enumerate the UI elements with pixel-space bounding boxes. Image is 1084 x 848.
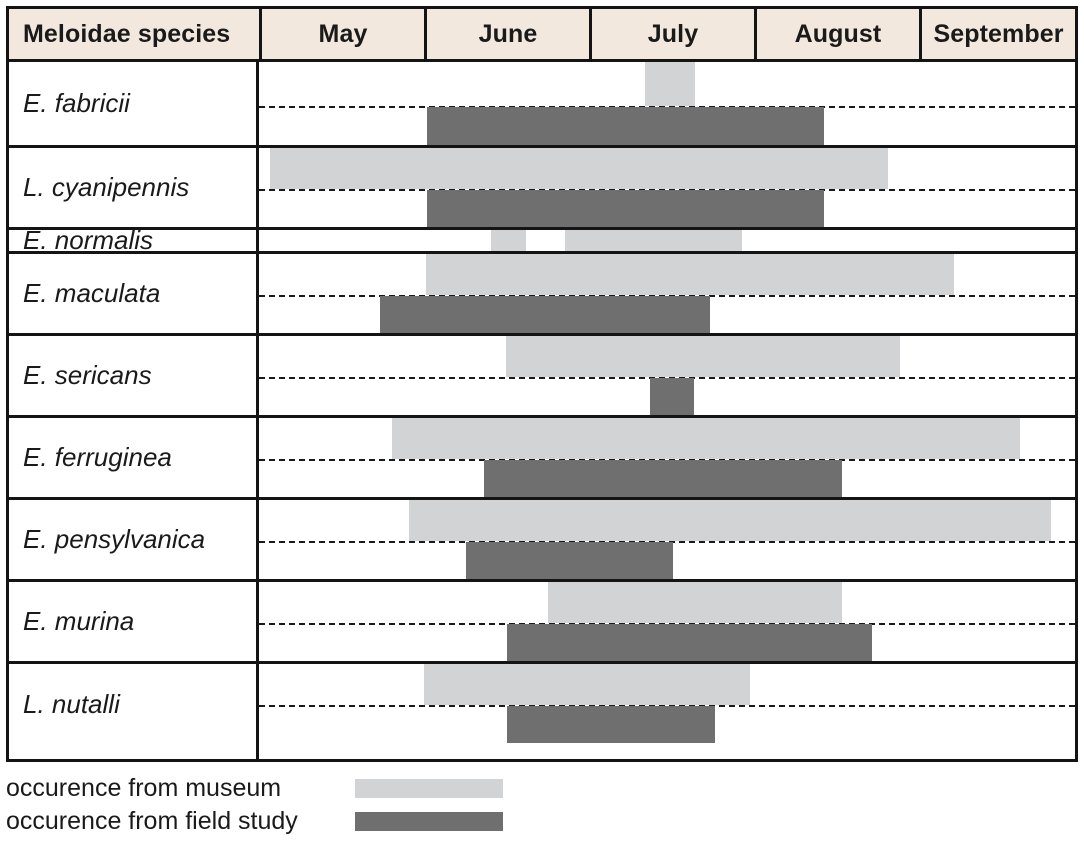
legend: occurence from museum occurence from fie…: [6, 772, 1078, 838]
museum-bar: [565, 230, 742, 251]
field-bar: [380, 296, 710, 333]
row-plot-e-maculata: [259, 254, 1075, 333]
row-label-e-maculata: E. maculata: [23, 277, 160, 308]
museum-bar: [548, 582, 842, 623]
field-swatch: [355, 812, 503, 831]
column-header-september: September: [919, 9, 1075, 59]
row-label-e-sericans: E. sericans: [23, 359, 152, 390]
legend-item-field-study: occurence from field study: [6, 805, 1078, 838]
column-header-species-label: Meloidae species: [23, 20, 230, 49]
row-plot-l-cyanipennis: [259, 148, 1075, 227]
museum-swatch: [355, 779, 503, 798]
row-plot-e-ferruginea: [259, 418, 1075, 497]
column-header-september-label: September: [933, 20, 1063, 49]
museum-bar: [409, 500, 1051, 541]
table-row: E. maculata: [9, 254, 1075, 336]
legend-label-field-study: occurence from field study: [6, 807, 298, 836]
column-header-june-label: June: [479, 20, 538, 49]
museum-bar: [506, 336, 900, 377]
row-plot-e-pensylvanica: [259, 500, 1075, 579]
museum-bar: [270, 148, 888, 189]
column-header-species: Meloidae species: [9, 9, 259, 59]
row-plot-e-sericans: [259, 336, 1075, 415]
field-bar: [427, 190, 824, 227]
legend-label-museum: occurence from museum: [6, 774, 281, 803]
museum-bar: [426, 254, 954, 295]
row-label-e-fabricii: E. fabricii: [23, 87, 130, 118]
row-label-l-nutalli: L. nutalli: [23, 689, 120, 720]
column-header-august: August: [754, 9, 919, 59]
row-plot-e-fabricii: [259, 62, 1075, 145]
museum-bar: [392, 418, 1020, 459]
column-header-may-label: May: [319, 20, 368, 49]
table-row: E. fabricii: [9, 62, 1075, 148]
row-label-e-pensylvanica: E. pensylvanica: [23, 523, 205, 554]
row-plot-l-nutalli: [259, 664, 1075, 746]
table-body: E. fabricii L. cyanipennis E. normalis: [9, 62, 1075, 759]
column-header-june: June: [424, 9, 589, 59]
museum-bar: [424, 664, 750, 705]
table-header-row: Meloidae species May June July August Se…: [9, 9, 1075, 62]
table-row: L. nutalli: [9, 664, 1075, 746]
phenology-table: Meloidae species May June July August Se…: [6, 6, 1078, 762]
field-bar: [466, 542, 673, 579]
row-label-e-murina: E. murina: [23, 605, 134, 636]
column-header-july: July: [589, 9, 754, 59]
phenology-figure: Meloidae species May June July August Se…: [0, 0, 1084, 848]
row-plot-e-normalis: [259, 230, 1075, 251]
table-row: L. cyanipennis: [9, 148, 1075, 230]
field-bar: [507, 624, 872, 661]
field-bar: [650, 378, 694, 415]
field-bar: [427, 107, 824, 145]
museum-bar: [491, 230, 526, 251]
table-row: E. sericans: [9, 336, 1075, 418]
table-row: E. pensylvanica: [9, 500, 1075, 582]
field-bar: [507, 706, 715, 743]
legend-item-museum: occurence from museum: [6, 772, 1078, 805]
table-row: E. normalis: [9, 230, 1075, 254]
field-bar: [484, 460, 842, 497]
column-header-july-label: July: [648, 20, 698, 49]
row-label-e-ferruginea: E. ferruginea: [23, 441, 172, 472]
table-row: E. murina: [9, 582, 1075, 664]
row-plot-e-murina: [259, 582, 1075, 661]
row-label-l-cyanipennis: L. cyanipennis: [23, 171, 189, 202]
row-label-e-normalis: E. normalis: [23, 224, 153, 255]
column-header-august-label: August: [795, 20, 882, 49]
column-header-may: May: [259, 9, 424, 59]
table-row: E. ferruginea: [9, 418, 1075, 500]
museum-bar: [645, 62, 695, 106]
